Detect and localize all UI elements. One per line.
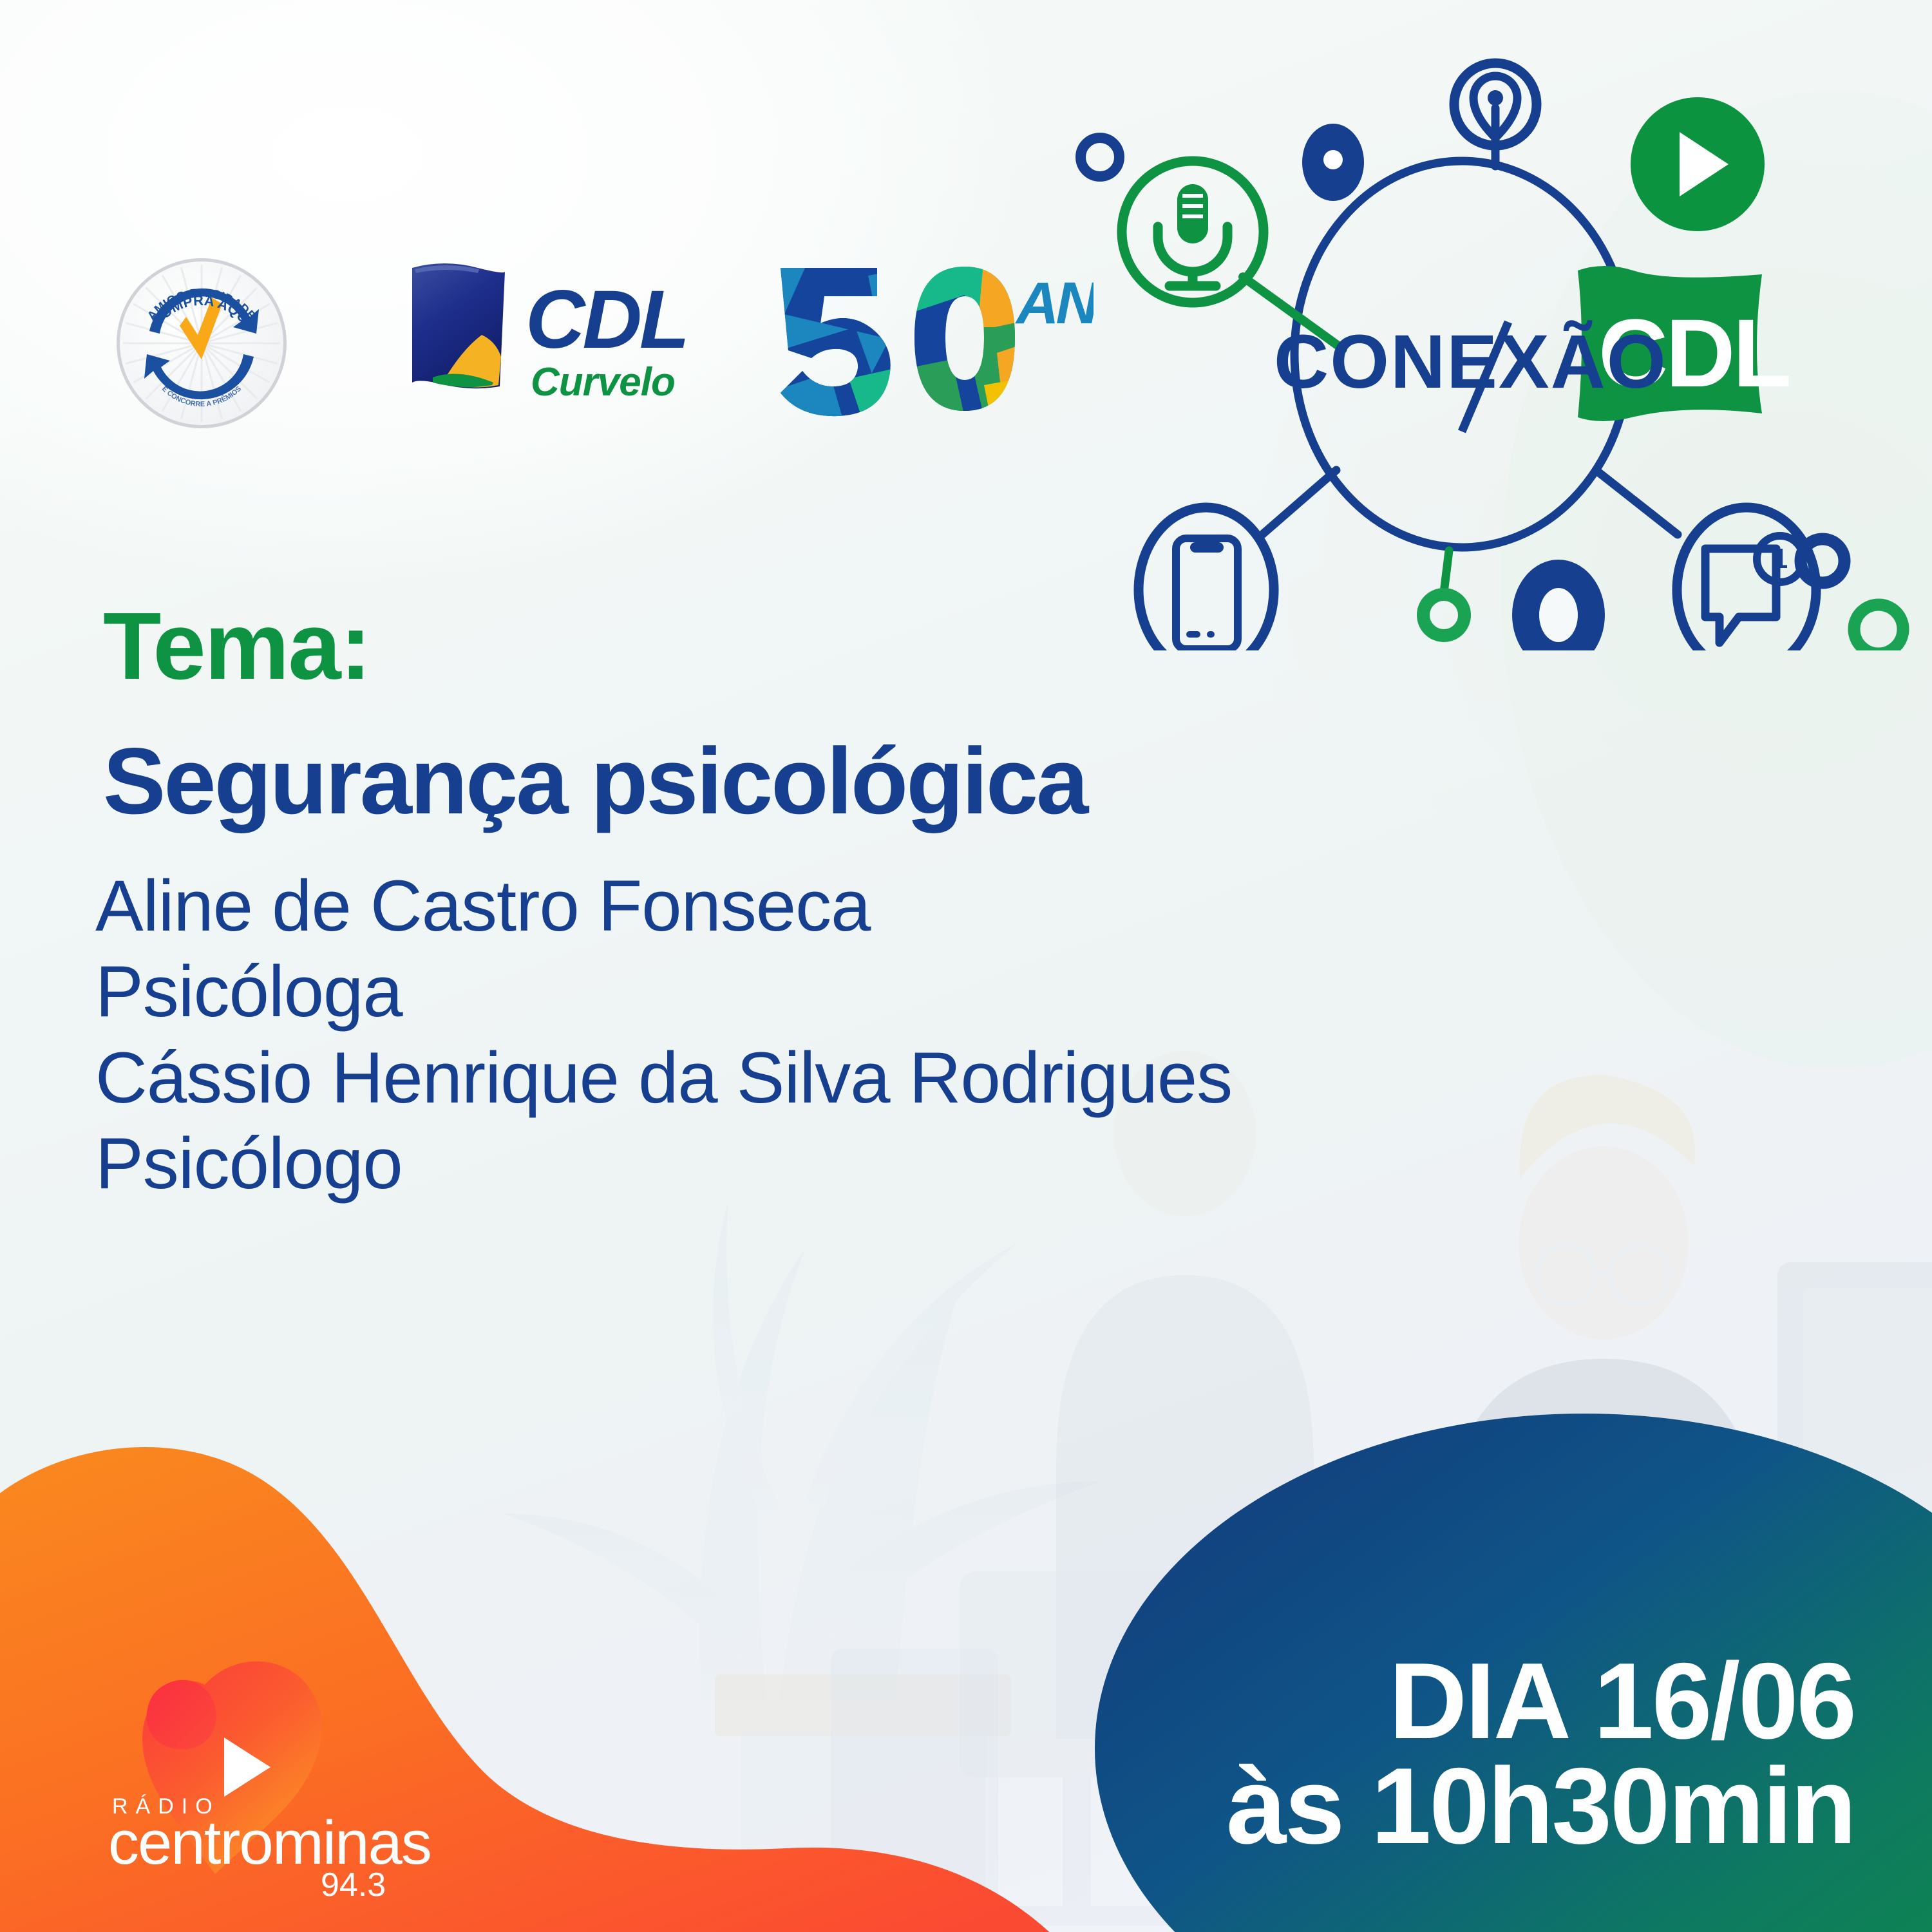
speakers-list: Aline de Castro Fonseca Psicóloga Cássio… [95, 863, 1232, 1206]
dot-node-1 [1081, 138, 1119, 176]
poster-canvas: AMIGO DA CIDADE COMPRA AQUI E CONCORRE A… [0, 0, 1932, 1932]
tema-label: Tema: [103, 599, 370, 694]
cdl-city-label: Curvelo [531, 360, 675, 404]
topic-title: Segurança psicológica [103, 734, 1086, 828]
conexao-wordmark: CONEXÃO [1274, 319, 1667, 404]
speaker-1-name: Aline de Castro Fonseca [95, 863, 1232, 949]
chat-badge-count: 1 [1772, 543, 1788, 574]
dot-node-5 [1423, 594, 1464, 636]
event-datetime: DIA 16/06 às 10h30min [1226, 1649, 1855, 1859]
smartphone-icon [1139, 507, 1274, 650]
speaker-2-name: Cássio Henrique da Silva Rodrigues [95, 1035, 1232, 1121]
speaker-1-role: Psicóloga [95, 949, 1232, 1034]
event-date: DIA 16/06 [1226, 1649, 1855, 1754]
stem-phone [1262, 470, 1336, 535]
location-pin-icon [1454, 63, 1537, 146]
stem-chat [1596, 470, 1678, 535]
50-anos-logo: ANOS [772, 256, 1094, 417]
microphone-icon [1122, 161, 1264, 303]
cdl-curvelo-logo: CDL Curvelo [404, 258, 778, 419]
speaker-2-role: Psicólogo [95, 1121, 1232, 1206]
play-icon [1631, 97, 1765, 231]
event-time: às 10h30min [1226, 1754, 1855, 1859]
amigo-da-cidade-seal: AMIGO DA CIDADE COMPRA AQUI E CONCORRE A… [113, 255, 290, 431]
dot-node-6-hole [1539, 588, 1578, 642]
radio-centrominas-logo: RÁDIO centrominas 94.3 [97, 1629, 470, 1900]
dot-node-4 [1854, 605, 1903, 650]
chat-bubble-icon: 1 [1677, 507, 1816, 650]
cdl-wordmark: CDL [526, 274, 687, 366]
radio-frequency: 94.3 [321, 1866, 386, 1900]
stem-green-node [1444, 551, 1449, 592]
dot-node-2-hole [1323, 150, 1343, 169]
cdl-flag-mark [412, 263, 505, 388]
conexao-cdl-graphic: 1 CDL CONEXÃO [1050, 19, 1932, 650]
